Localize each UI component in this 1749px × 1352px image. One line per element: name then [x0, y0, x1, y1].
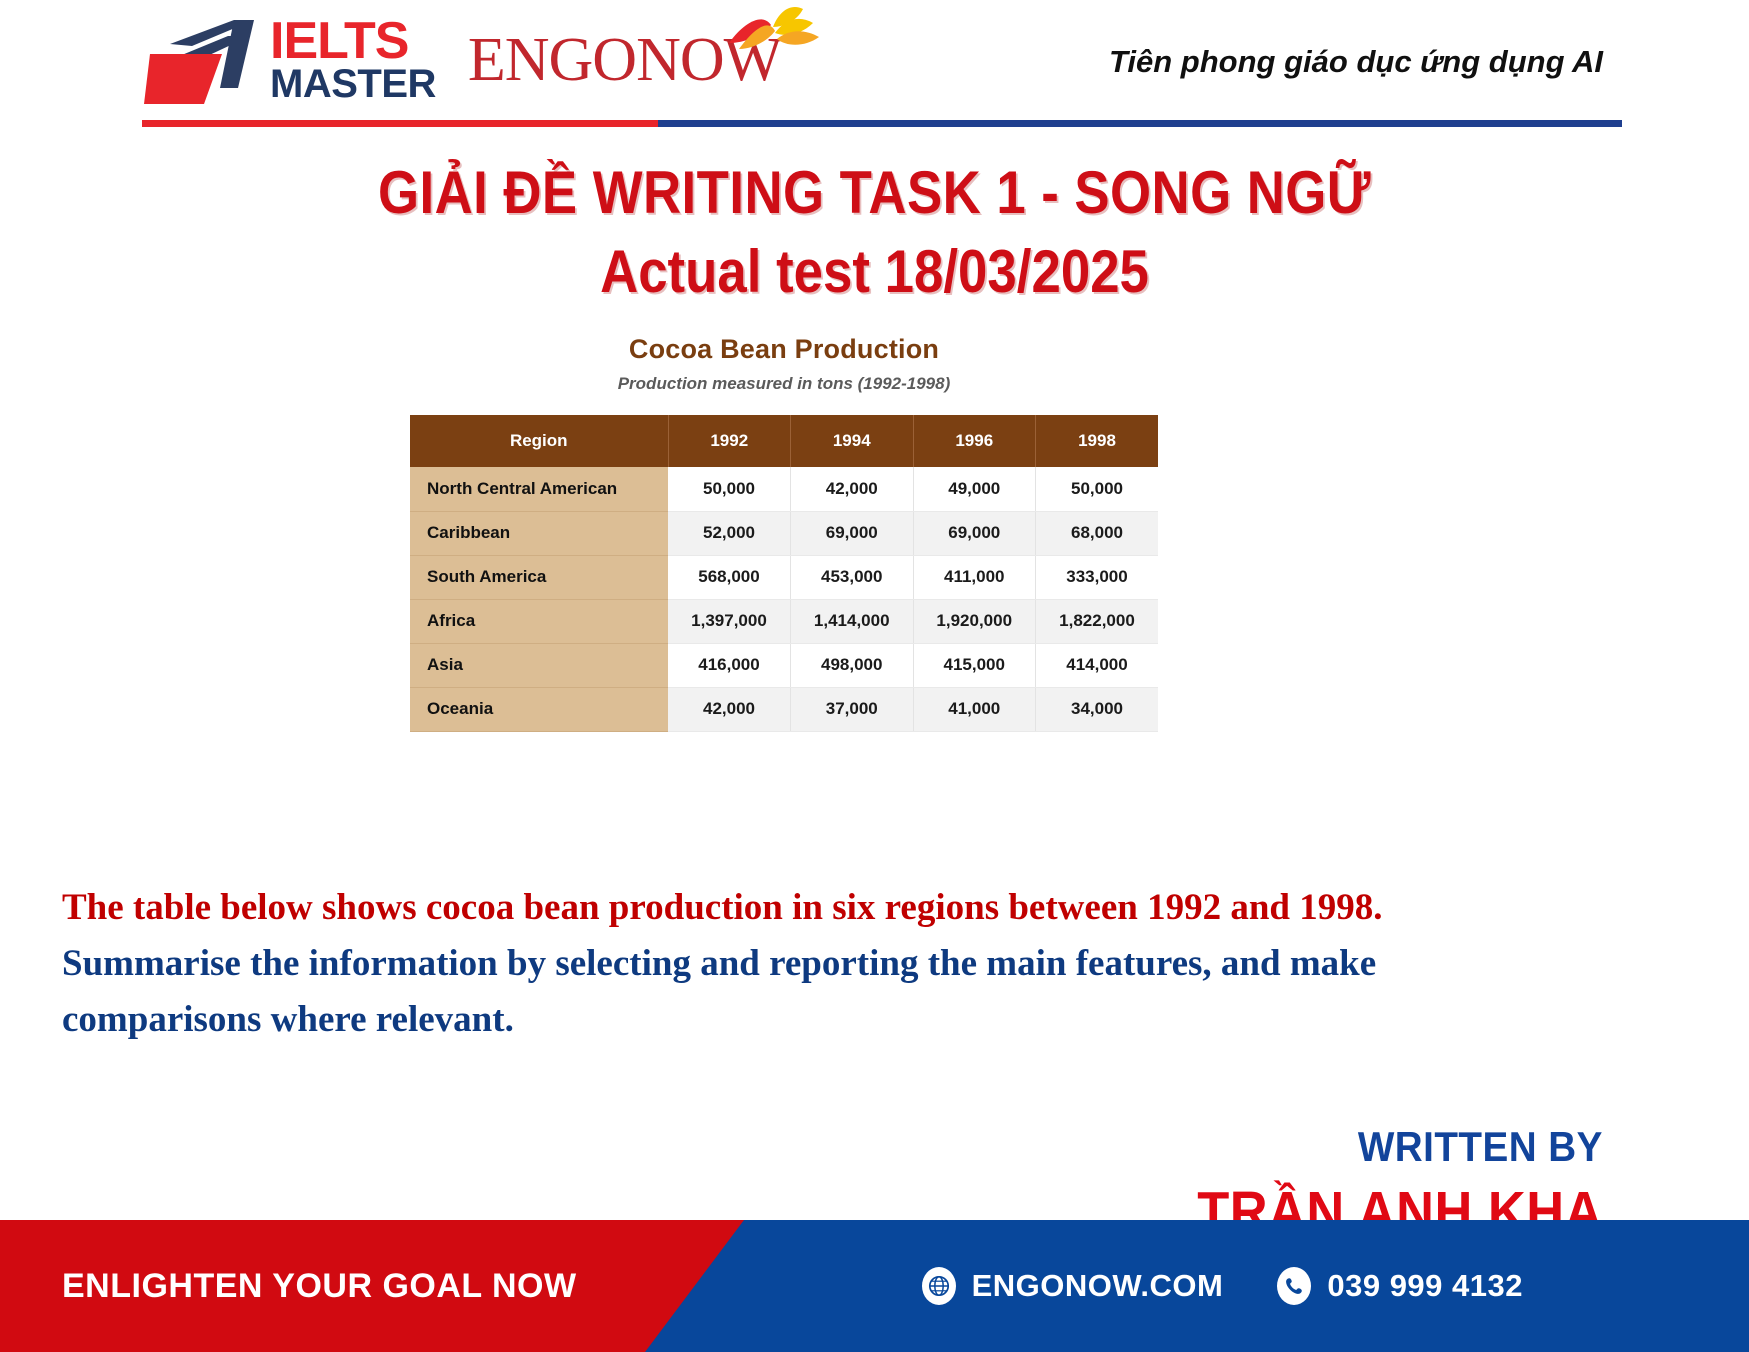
cell-region: Oceania — [410, 687, 668, 731]
footer-slogan: ENLIGHTEN YOUR GOAL NOW — [62, 1220, 577, 1352]
cell-region: Asia — [410, 643, 668, 687]
cell-region: Africa — [410, 599, 668, 643]
website-text: ENGONOW.COM — [972, 1268, 1224, 1304]
cell-value: 42,000 — [791, 467, 914, 511]
cell-value: 333,000 — [1036, 555, 1159, 599]
slide-page: IELTS MASTER ENGONOW Tiên phong giáo — [0, 0, 1749, 1352]
phone-text: 039 999 4132 — [1327, 1268, 1523, 1304]
cell-value: 42,000 — [668, 687, 791, 731]
ielts-master-wordmark: IELTS MASTER — [270, 18, 436, 103]
table-row: North Central American 50,000 42,000 49,… — [410, 467, 1158, 511]
globe-icon — [922, 1267, 956, 1305]
header-tagline: Tiên phong giáo dục ứng dụng AI — [1109, 44, 1603, 80]
cell-value: 52,000 — [668, 511, 791, 555]
task-prompt: The table below shows cocoa bean product… — [62, 880, 1532, 1049]
table-row: Africa 1,397,000 1,414,000 1,920,000 1,8… — [410, 599, 1158, 643]
cell-value: 69,000 — [791, 511, 914, 555]
cell-value: 50,000 — [1036, 467, 1159, 511]
logo-group: IELTS MASTER ENGONOW — [142, 14, 781, 106]
cell-value: 37,000 — [791, 687, 914, 731]
cocoa-table-card: Cocoa Bean Production Production measure… — [410, 334, 1158, 732]
cell-value: 1,414,000 — [791, 599, 914, 643]
footer-contact-group: ENGONOW.COM 039 999 4132 — [922, 1220, 1523, 1352]
phone-icon — [1277, 1267, 1311, 1305]
header-rule-blue — [658, 120, 1622, 127]
footer: ENLIGHTEN YOUR GOAL NOW ENGONOW.COM — [0, 1220, 1749, 1352]
prompt-line-blue: Summarise the information by selecting a… — [62, 936, 1532, 1048]
col-header-1998: 1998 — [1036, 415, 1159, 467]
master-text: MASTER — [270, 66, 436, 103]
footer-phone[interactable]: 039 999 4132 — [1277, 1267, 1523, 1305]
header: IELTS MASTER ENGONOW Tiên phong giáo — [0, 0, 1749, 140]
cell-value: 1,397,000 — [668, 599, 791, 643]
cell-value: 1,822,000 — [1036, 599, 1159, 643]
cell-value: 1,920,000 — [913, 599, 1036, 643]
ielts-text: IELTS — [270, 18, 436, 66]
table-row: Caribbean 52,000 69,000 69,000 68,000 — [410, 511, 1158, 555]
page-title: GIẢI ĐỀ WRITING TASK 1 - SONG NGỮ Actual… — [0, 158, 1749, 306]
footer-website[interactable]: ENGONOW.COM — [922, 1267, 1224, 1305]
col-header-1996: 1996 — [913, 415, 1036, 467]
books-stack-icon — [142, 14, 260, 106]
open-book-icon — [725, 3, 821, 62]
table-header-row: Region 1992 1994 1996 1998 — [410, 415, 1158, 467]
cell-value: 50,000 — [668, 467, 791, 511]
header-rule-red — [142, 120, 658, 127]
page-title-line2: Actual test 18/03/2025 — [105, 237, 1644, 306]
written-by-label: WRITTEN BY — [1197, 1123, 1603, 1171]
col-header-region: Region — [410, 415, 668, 467]
prompt-line-red: The table below shows cocoa bean product… — [62, 880, 1532, 936]
cell-value: 41,000 — [913, 687, 1036, 731]
cell-value: 568,000 — [668, 555, 791, 599]
cell-value: 453,000 — [791, 555, 914, 599]
table-row: Oceania 42,000 37,000 41,000 34,000 — [410, 687, 1158, 731]
cell-value: 414,000 — [1036, 643, 1159, 687]
cell-region: Caribbean — [410, 511, 668, 555]
cell-value: 68,000 — [1036, 511, 1159, 555]
cell-value: 49,000 — [913, 467, 1036, 511]
page-title-line1: GIẢI ĐỀ WRITING TASK 1 - SONG NGỮ — [105, 158, 1644, 227]
cell-value: 34,000 — [1036, 687, 1159, 731]
cell-value: 69,000 — [913, 511, 1036, 555]
cell-region: South America — [410, 555, 668, 599]
engonow-logo: ENGONOW — [468, 29, 781, 91]
col-header-1994: 1994 — [791, 415, 914, 467]
cell-value: 416,000 — [668, 643, 791, 687]
cell-value: 498,000 — [791, 643, 914, 687]
table-title: Cocoa Bean Production — [410, 334, 1158, 365]
cocoa-production-table: Region 1992 1994 1996 1998 North Central… — [410, 415, 1158, 732]
ielts-master-logo: IELTS MASTER — [142, 14, 436, 106]
cell-region: North Central American — [410, 467, 668, 511]
cell-value: 411,000 — [913, 555, 1036, 599]
table-row: Asia 416,000 498,000 415,000 414,000 — [410, 643, 1158, 687]
table-row: South America 568,000 453,000 411,000 33… — [410, 555, 1158, 599]
col-header-1992: 1992 — [668, 415, 791, 467]
cell-value: 415,000 — [913, 643, 1036, 687]
table-subtitle: Production measured in tons (1992-1998) — [410, 374, 1158, 394]
